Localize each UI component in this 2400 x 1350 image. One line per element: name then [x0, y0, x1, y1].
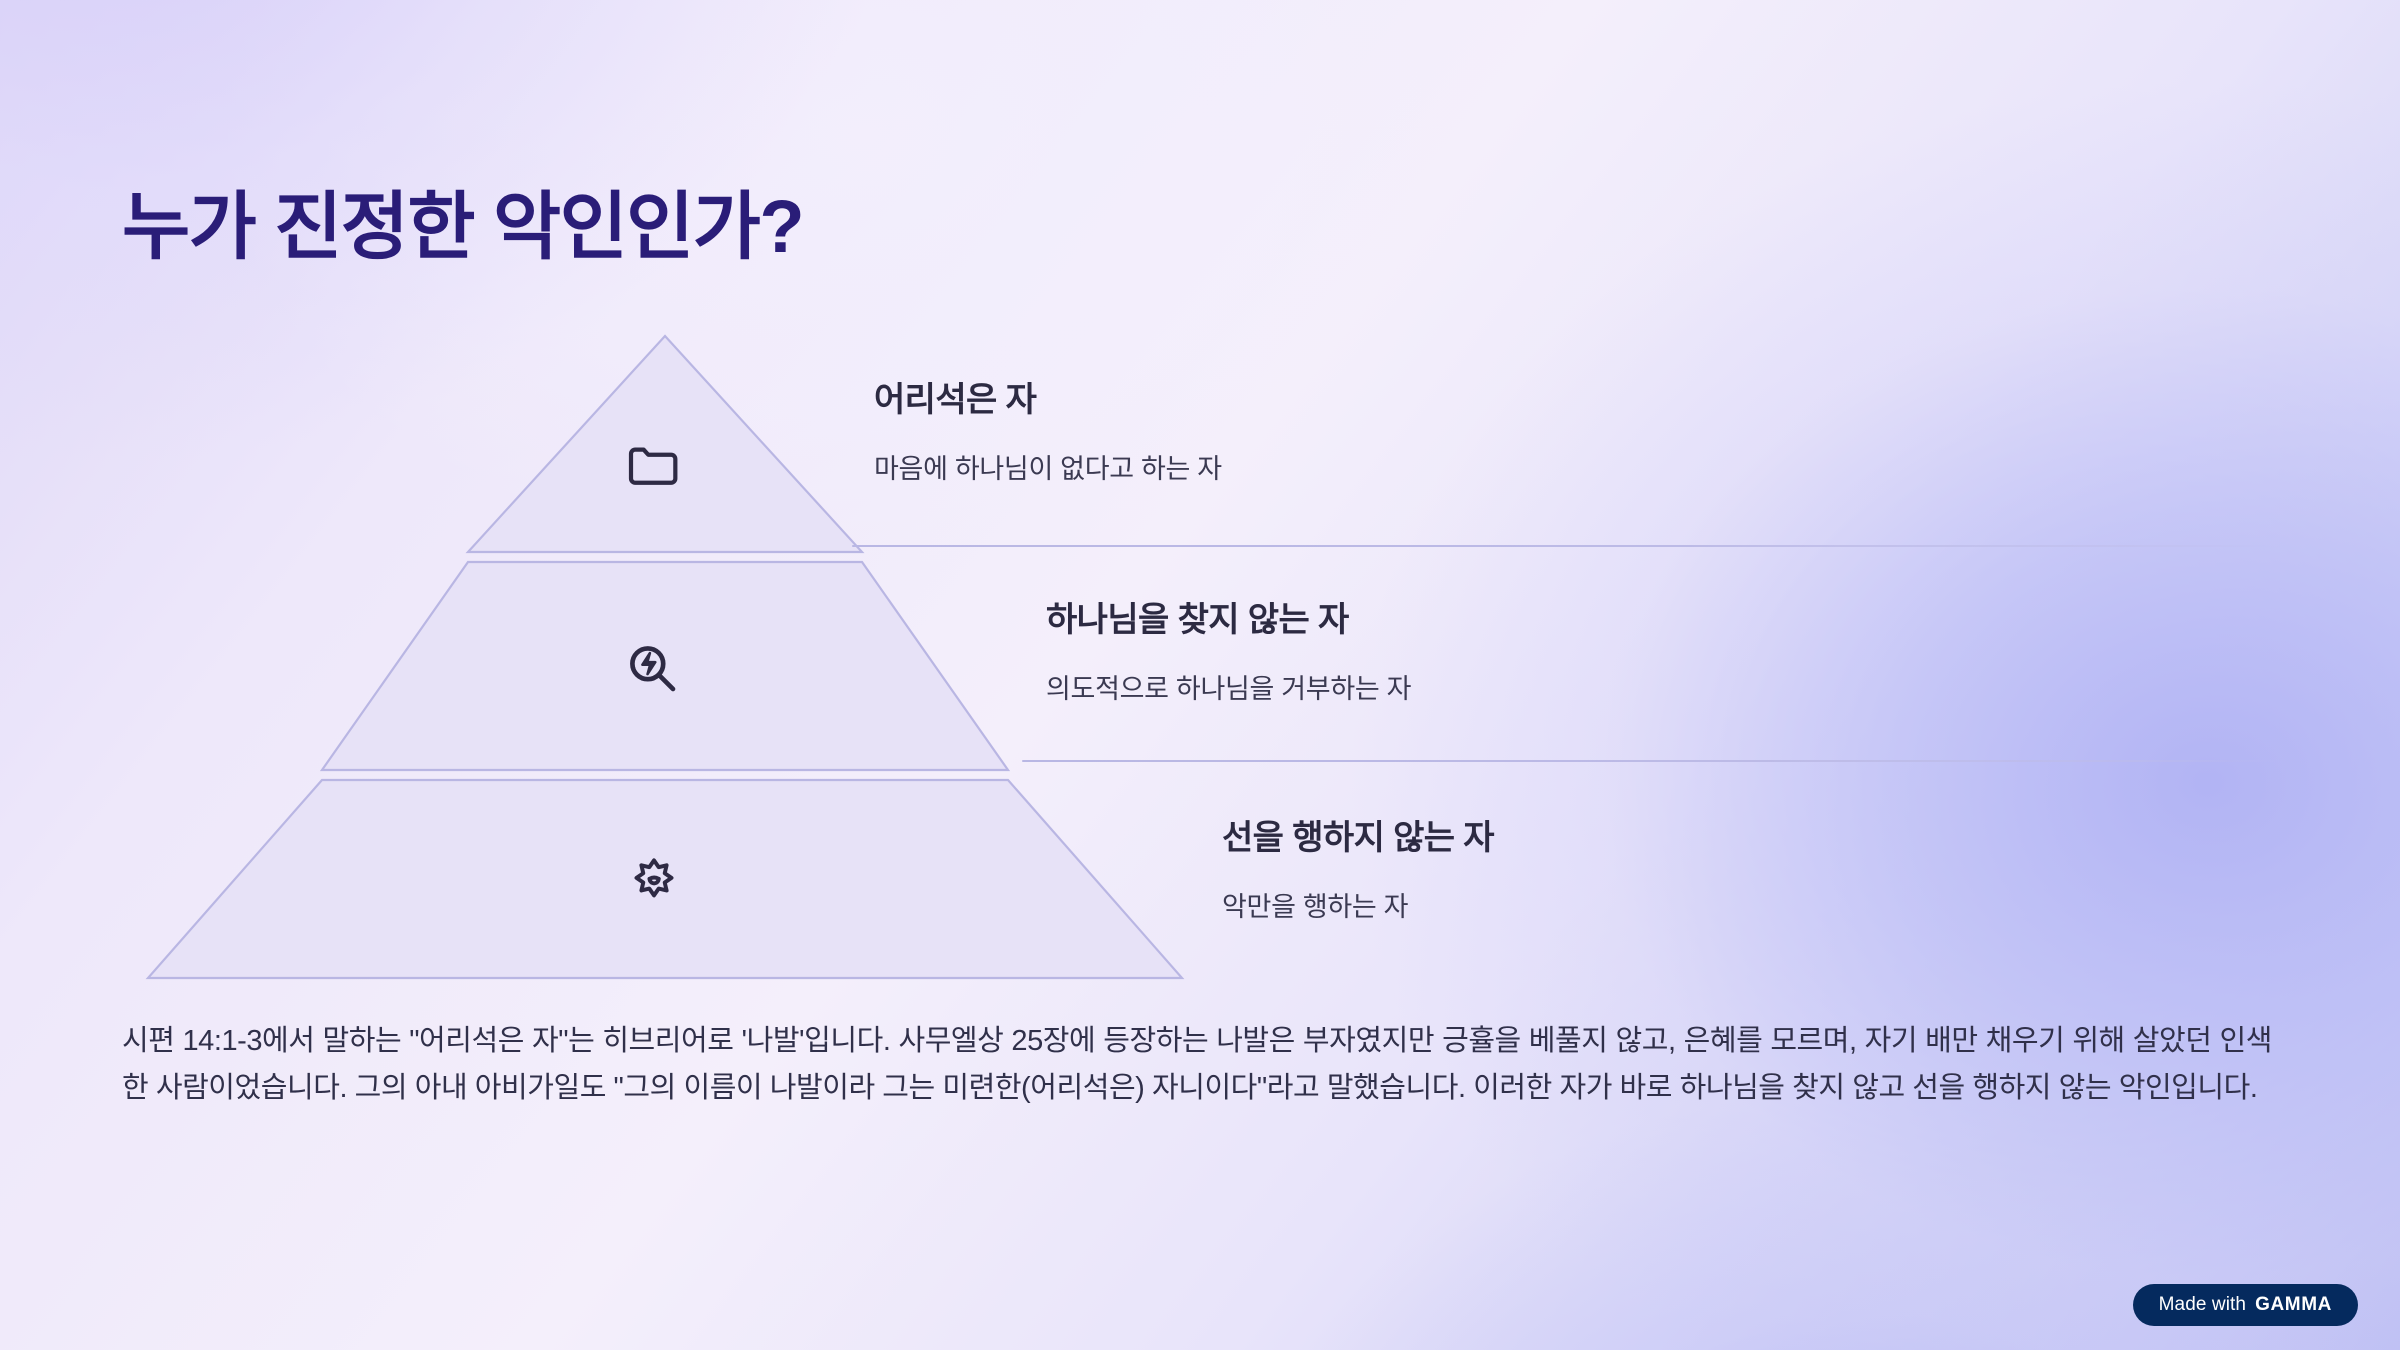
slide-canvas: 누가 진정한 악인인가? 어 — [0, 0, 2400, 1350]
pyramid-tier-3-label: 선을 행하지 않는 자 악만을 행하는 자 — [1222, 810, 1494, 924]
tier-2-description: 의도적으로 하나님을 거부하는 자 — [1046, 667, 1411, 706]
pyramid-tier-2-label: 하나님을 찾지 않는 자 의도적으로 하나님을 거부하는 자 — [1046, 592, 1411, 706]
gamma-wordmark: GAMMA — [2255, 1294, 2332, 1316]
body-paragraph: 시편 14:1-3에서 말하는 "어리석은 자"는 히브리어로 '나발'입니다.… — [122, 1018, 2272, 1112]
pyramid-tier-1-label: 어리석은 자 마음에 하나님이 없다고 하는 자 — [874, 372, 1222, 486]
made-with-gamma-badge[interactable]: Made with GAMMA — [2133, 1284, 2358, 1326]
tier-2-title: 하나님을 찾지 않는 자 — [1046, 592, 1411, 641]
page-title: 누가 진정한 악인인가? — [122, 188, 803, 266]
tier-divider-2 — [1022, 760, 2284, 762]
badge-prefix-label: Made with — [2159, 1294, 2247, 1316]
folder-icon — [624, 437, 680, 493]
tier-1-description: 마음에 하나님이 없다고 하는 자 — [874, 447, 1222, 486]
tier-3-title: 선을 행하지 않는 자 — [1222, 810, 1494, 859]
tier-1-title: 어리석은 자 — [874, 372, 1222, 421]
starburst-gear-icon — [626, 855, 682, 911]
magnifier-lightning-icon — [624, 640, 680, 696]
tier-divider-1 — [852, 545, 2282, 547]
tier-3-description: 악만을 행하는 자 — [1222, 885, 1494, 924]
